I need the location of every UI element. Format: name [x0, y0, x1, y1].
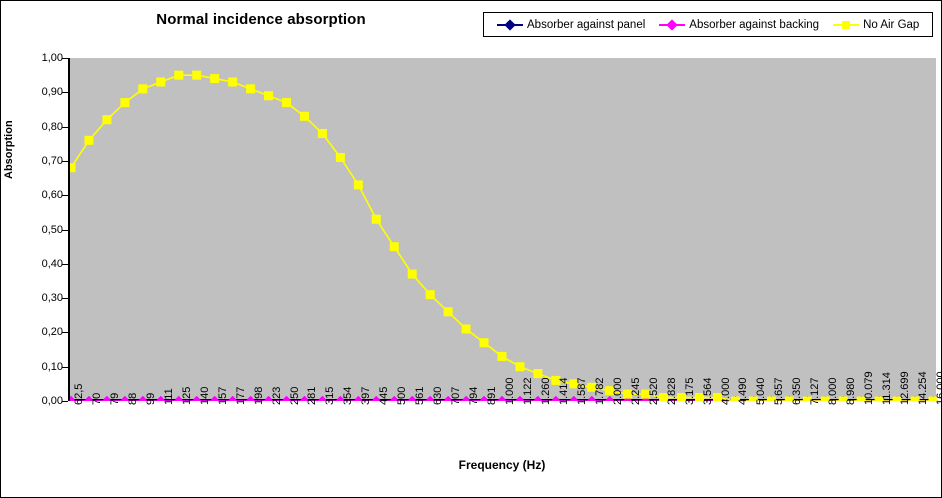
x-tick-label: 2.520	[648, 377, 660, 405]
x-tick-label: 16.000	[935, 371, 942, 405]
y-tick-label: 0,70	[19, 155, 63, 167]
x-tick-label: 125	[181, 387, 193, 405]
x-tick-label: 500	[396, 387, 408, 405]
data-point-marker	[84, 136, 93, 145]
y-tick-label: 1,00	[19, 52, 63, 64]
x-tick-label: 397	[360, 387, 372, 405]
x-tick-label: 5.040	[755, 377, 767, 405]
x-tick-label: 281	[306, 387, 318, 405]
x-tick-label: 2.000	[612, 377, 624, 405]
x-tick-label: 88	[127, 393, 139, 405]
legend-label: Absorber against panel	[527, 19, 645, 31]
x-tick-label: 79	[109, 393, 121, 405]
chart-title: Normal incidence absorption	[111, 11, 411, 28]
x-tick-label: 707	[450, 387, 462, 405]
data-point-marker	[318, 129, 327, 138]
data-point-marker	[426, 290, 435, 299]
chart-legend: Absorber against panelAbsorber against b…	[483, 12, 933, 37]
data-point-marker	[120, 98, 129, 107]
data-point-marker	[480, 338, 489, 347]
legend-label: No Air Gap	[863, 19, 919, 31]
data-point-marker	[138, 84, 147, 93]
chart-window: Normal incidence absorption Absorber aga…	[0, 0, 942, 498]
legend-diamond-marker-icon	[497, 19, 523, 31]
x-tick-label: 5.657	[773, 377, 785, 405]
data-point-marker	[156, 78, 165, 87]
x-axis-tick-labels: 62,5707988991111251401571771982232502813…	[1, 405, 942, 465]
data-point-marker	[264, 91, 273, 100]
x-tick-label: 3.564	[702, 377, 714, 405]
x-tick-label: 157	[217, 387, 229, 405]
data-point-marker	[444, 307, 453, 316]
x-tick-label: 70	[91, 393, 103, 405]
legend-entry[interactable]: No Air Gap	[833, 19, 919, 31]
data-point-marker	[372, 215, 381, 224]
x-tick-label: 198	[253, 387, 265, 405]
x-tick-label: 140	[199, 387, 211, 405]
x-tick-label: 250	[289, 387, 301, 405]
legend-diamond-marker-icon	[659, 19, 685, 31]
x-tick-label: 99	[145, 393, 157, 405]
data-point-marker	[210, 74, 219, 83]
x-tick-label: 11.314	[881, 372, 893, 405]
x-tick-label: 1.782	[594, 377, 606, 405]
x-tick-label: 8.980	[845, 377, 857, 405]
y-tick-label: 0,10	[19, 361, 63, 373]
data-point-marker	[174, 71, 183, 80]
x-tick-label: 4.000	[720, 377, 732, 405]
x-tick-label: 1.000	[504, 377, 516, 405]
x-tick-label: 14.254	[917, 371, 929, 405]
y-tick-label: 0,90	[19, 86, 63, 98]
x-tick-label: 891	[486, 387, 498, 405]
data-point-marker	[462, 324, 471, 333]
x-tick-label: 1.414	[558, 377, 570, 405]
x-tick-label: 2.245	[630, 377, 642, 405]
data-point-marker	[498, 352, 507, 361]
x-tick-label: 62,5	[73, 384, 85, 405]
x-tick-label: 354	[342, 387, 354, 405]
data-point-marker	[282, 98, 291, 107]
x-tick-label: 4.490	[737, 377, 749, 405]
legend-entry[interactable]: Absorber against panel	[497, 19, 645, 31]
data-point-marker	[228, 78, 237, 87]
x-tick-label: 2.828	[666, 377, 678, 405]
x-tick-label: 6.350	[791, 377, 803, 405]
data-point-marker	[192, 71, 201, 80]
series-3	[70, 71, 938, 401]
x-tick-label: 7.127	[809, 377, 821, 405]
x-tick-label: 561	[414, 387, 426, 405]
x-tick-label: 12.699	[899, 371, 911, 405]
y-tick-label: 0,50	[19, 224, 63, 236]
x-tick-label: 10.079	[863, 371, 875, 405]
y-tick-label: 0,20	[19, 326, 63, 338]
plot-series-canvas	[70, 58, 938, 401]
x-tick-label: 1.260	[540, 377, 552, 405]
data-point-marker	[246, 84, 255, 93]
data-point-marker	[102, 115, 111, 124]
x-tick-label: 8.000	[827, 377, 839, 405]
legend-label: Absorber against backing	[689, 19, 819, 31]
data-point-marker	[390, 242, 399, 251]
legend-entry[interactable]: Absorber against backing	[659, 19, 819, 31]
legend-square-marker-icon	[833, 19, 859, 31]
x-tick-label: 315	[324, 387, 336, 405]
data-point-marker	[515, 362, 524, 371]
y-tick-label: 0,60	[19, 189, 63, 201]
x-tick-label: 3.175	[684, 377, 696, 405]
x-tick-label: 630	[432, 387, 444, 405]
plot-area	[68, 58, 936, 401]
y-tick-label: 0,80	[19, 121, 63, 133]
data-point-marker	[354, 180, 363, 189]
x-tick-label: 1.122	[522, 377, 534, 405]
y-tick-mark	[62, 401, 68, 402]
x-axis-title: Frequency (Hz)	[68, 458, 936, 472]
y-tick-label: 0,40	[19, 258, 63, 270]
x-tick-label: 794	[468, 387, 480, 405]
x-tick-label: 177	[235, 387, 247, 405]
data-point-marker	[300, 112, 309, 121]
x-tick-label: 445	[378, 387, 390, 405]
x-tick-label: 1.587	[576, 377, 588, 405]
data-point-marker	[336, 153, 345, 162]
x-tick-label: 111	[163, 388, 175, 405]
x-tick-label: 223	[271, 387, 283, 405]
data-point-marker	[70, 163, 76, 172]
data-point-marker	[408, 270, 417, 279]
y-tick-label: 0,30	[19, 292, 63, 304]
